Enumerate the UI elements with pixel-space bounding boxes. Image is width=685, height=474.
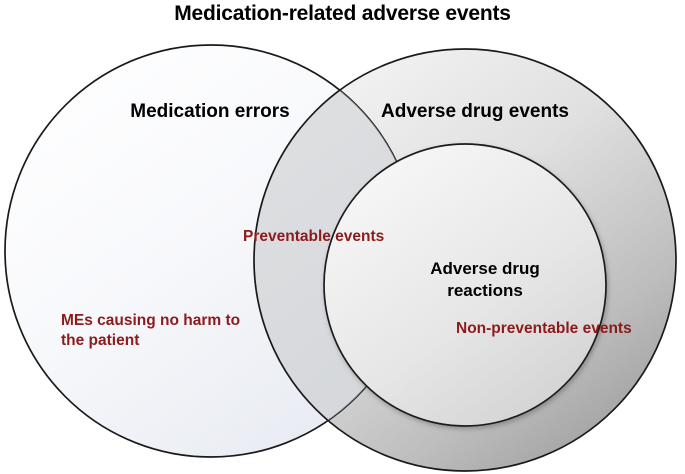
- venn-diagram-figure: Medication-related adverse events Medica…: [0, 0, 685, 474]
- label-preventable-events: Preventable events: [243, 228, 433, 246]
- label-adverse-drug-events: Adverse drug events: [355, 101, 595, 123]
- label-mes-causing-no-harm: MEs causing no harm to the patient: [61, 311, 276, 352]
- label-medication-errors: Medication errors: [60, 101, 360, 123]
- label-non-preventable-events: Non-preventable events: [456, 320, 676, 338]
- label-adverse-drug-reactions: Adverse drug reactions: [390, 258, 580, 302]
- diagram-title: Medication-related adverse events: [0, 2, 685, 26]
